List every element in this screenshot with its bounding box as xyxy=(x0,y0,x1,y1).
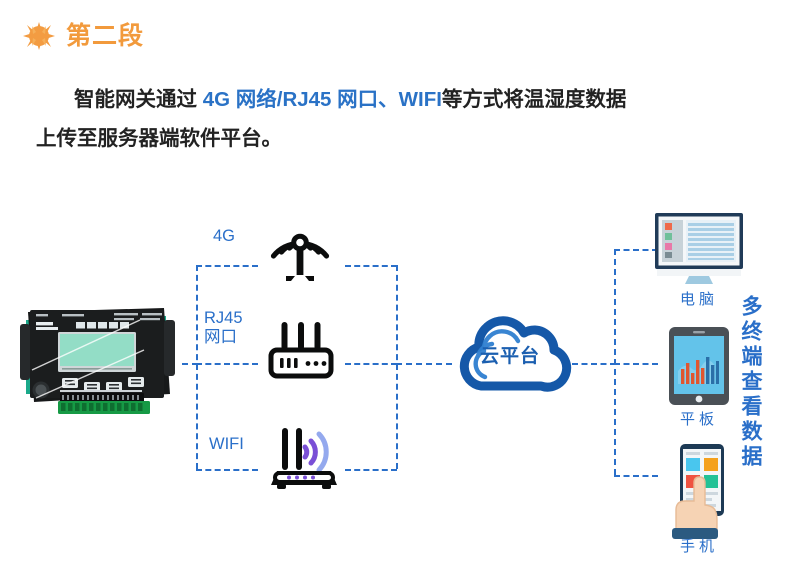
paragraph-line2: 上传至服务器端软件平台。 xyxy=(36,127,282,150)
body-paragraph: 智能网关通过 4G 网络/RJ45 网口、WIFI等方式将温湿度数据 上传至服务… xyxy=(36,80,766,158)
link-rj45-branch xyxy=(196,363,258,365)
link-cloud-out xyxy=(572,363,616,365)
terminal-tablet-caption: 平板 xyxy=(655,408,743,429)
channels-collector-spine xyxy=(396,265,398,469)
link-4g-out xyxy=(345,265,397,267)
network-topology-diagram: 4G RJ45 网口 WIFI xyxy=(0,195,790,586)
side-note-vertical: 多终端查看数据 xyxy=(736,295,764,470)
gateway-device-image xyxy=(14,298,182,416)
page-header: 第二段 xyxy=(22,14,144,58)
cloud-platform-icon: 云平台 xyxy=(444,303,576,400)
link-4g-branch xyxy=(196,265,258,267)
label-4g: 4G xyxy=(213,227,235,246)
label-rj45-line2: 网口 xyxy=(204,328,237,346)
link-wifi-out xyxy=(345,469,397,471)
label-wifi: WIFI xyxy=(209,435,244,454)
paragraph-line1-post: 等方式将温湿度数据 xyxy=(442,88,627,111)
link-pc-branch xyxy=(614,249,658,251)
orange-splash-icon xyxy=(22,21,56,51)
paragraph-highlight: 4G 网络/RJ45 网口、WIFI xyxy=(203,88,442,111)
link-phone-branch xyxy=(614,475,658,477)
page-title: 第二段 xyxy=(66,24,144,49)
terminal-phone-caption: 手机 xyxy=(655,535,743,556)
paragraph-line1-pre: 智能网关通过 xyxy=(74,88,203,111)
link-rj45-out xyxy=(345,363,397,365)
terminal-pc xyxy=(655,213,743,285)
terminal-tablet xyxy=(669,327,729,405)
cell-tower-icon xyxy=(264,214,336,286)
label-rj45: RJ45 网口 xyxy=(204,309,243,347)
cloud-label: 云平台 xyxy=(444,341,576,368)
link-wifi-branch xyxy=(196,469,258,471)
left-bracket-spine xyxy=(196,265,198,469)
terminal-phone xyxy=(668,444,730,540)
link-tablet-branch xyxy=(614,363,658,365)
terminal-pc-caption: 电脑 xyxy=(655,288,743,309)
router-icon xyxy=(265,320,337,382)
terminals-spine xyxy=(614,249,616,475)
label-rj45-line1: RJ45 xyxy=(204,309,243,327)
wifi-router-icon xyxy=(265,423,343,495)
